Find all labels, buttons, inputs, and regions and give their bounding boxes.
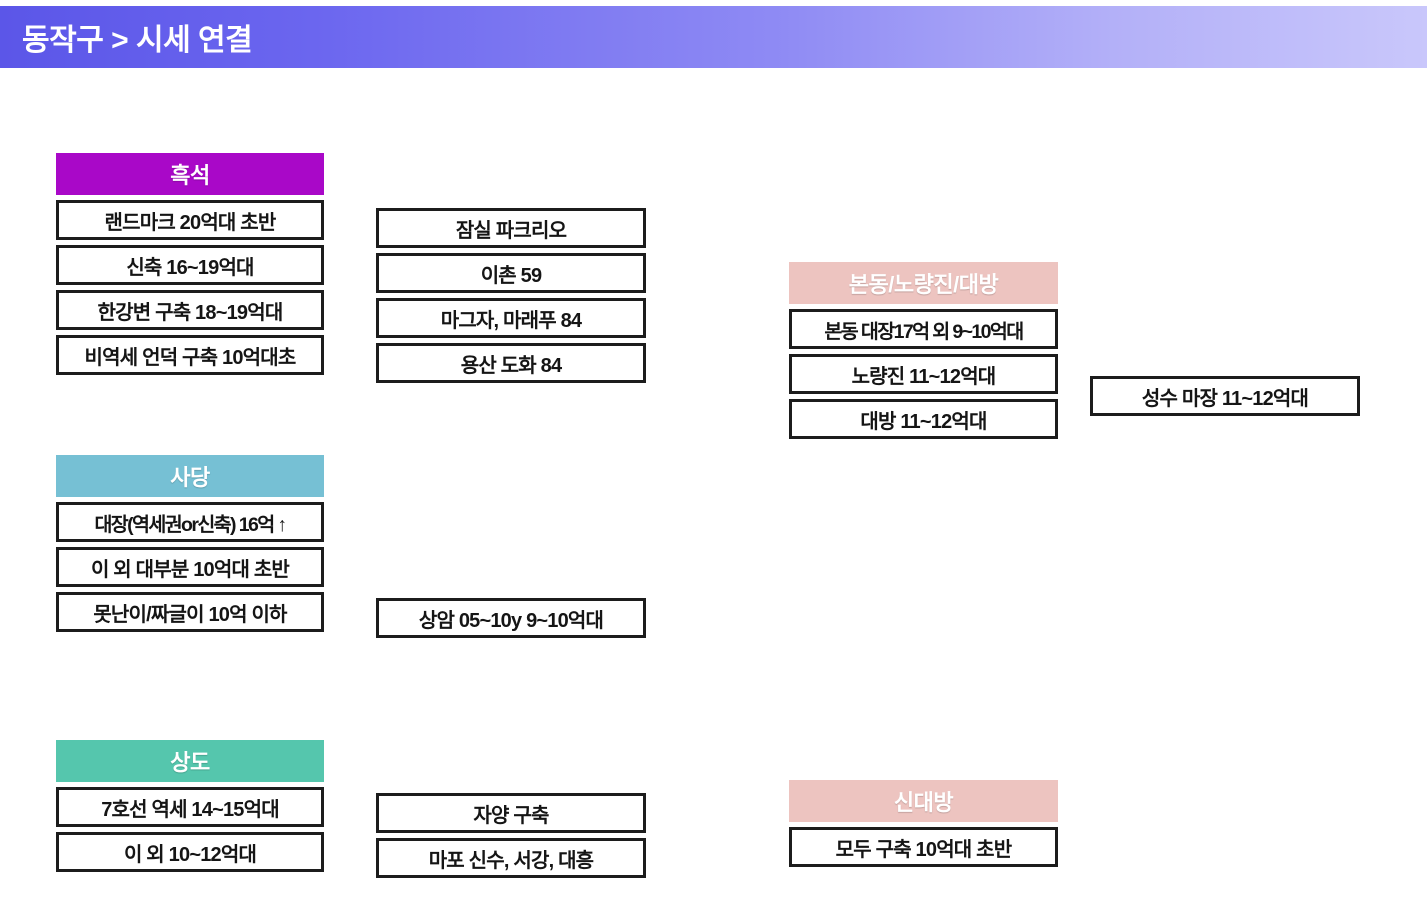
group-sindaebang-header: 신대방 <box>789 780 1058 822</box>
heuksuk-row-4: 비역세 언덕 구축 10억대초 <box>56 335 324 375</box>
heuksuk-row-2: 신축 16~19억대 <box>56 245 324 285</box>
group-bondong: 본동/노량진/대방 본동 대장17억 외 9~10억대 노량진 11~12억대 … <box>789 262 1058 439</box>
heuksuk-row-1: 랜드마크 20억대 초반 <box>56 200 324 240</box>
heuksuk-compare-row-1: 잠실 파크리오 <box>376 208 646 248</box>
heuksuk-compare-row-3: 마그자, 마래푸 84 <box>376 298 646 338</box>
group-sadang-compare: 상암 05~10y 9~10억대 <box>376 598 646 638</box>
sangdo-compare-row-1: 자양 구축 <box>376 793 646 833</box>
sadang-row-2: 이 외 대부분 10억대 초반 <box>56 547 324 587</box>
bondong-row-3: 대방 11~12억대 <box>789 399 1058 439</box>
sadang-compare-row-1: 상암 05~10y 9~10억대 <box>376 598 646 638</box>
group-sindaebang: 신대방 모두 구축 10억대 초반 <box>789 780 1058 867</box>
group-sangdo: 상도 7호선 역세 14~15억대 이 외 10~12억대 <box>56 740 324 872</box>
group-heuksuk-header: 흑석 <box>56 153 324 195</box>
sangdo-compare-row-2: 마포 신수, 서강, 대흥 <box>376 838 646 878</box>
sadang-row-3: 못난이/짜글이 10억 이하 <box>56 592 324 632</box>
heuksuk-compare-row-4: 용산 도화 84 <box>376 343 646 383</box>
bondong-row-2: 노량진 11~12억대 <box>789 354 1058 394</box>
sadang-row-1: 대장(역세권or신축) 16억 ↑ <box>56 502 324 542</box>
group-sangdo-compare: 자양 구축 마포 신수, 서강, 대흥 <box>376 793 646 878</box>
heuksuk-row-3: 한강변 구축 18~19억대 <box>56 290 324 330</box>
heuksuk-compare-row-2: 이촌 59 <box>376 253 646 293</box>
group-bondong-header: 본동/노량진/대방 <box>789 262 1058 304</box>
group-sangdo-header: 상도 <box>56 740 324 782</box>
group-heuksuk: 흑석 랜드마크 20억대 초반 신축 16~19억대 한강변 구축 18~19억… <box>56 153 324 375</box>
page-title: 동작구 > 시세 연결 <box>22 15 252 59</box>
sangdo-row-2: 이 외 10~12억대 <box>56 832 324 872</box>
group-seongsu-compare: 성수 마장 11~12억대 <box>1090 376 1360 416</box>
sindaebang-row-1: 모두 구축 10억대 초반 <box>789 827 1058 867</box>
group-sadang: 사당 대장(역세권or신축) 16억 ↑ 이 외 대부분 10억대 초반 못난이… <box>56 455 324 632</box>
bondong-row-1: 본동 대장17억 외 9~10억대 <box>789 309 1058 349</box>
group-heuksuk-compare: 잠실 파크리오 이촌 59 마그자, 마래푸 84 용산 도화 84 <box>376 208 646 383</box>
sangdo-row-1: 7호선 역세 14~15억대 <box>56 787 324 827</box>
seongsu-row-1: 성수 마장 11~12억대 <box>1090 376 1360 416</box>
group-sadang-header: 사당 <box>56 455 324 497</box>
page-header-banner: 동작구 > 시세 연결 <box>0 6 1427 68</box>
